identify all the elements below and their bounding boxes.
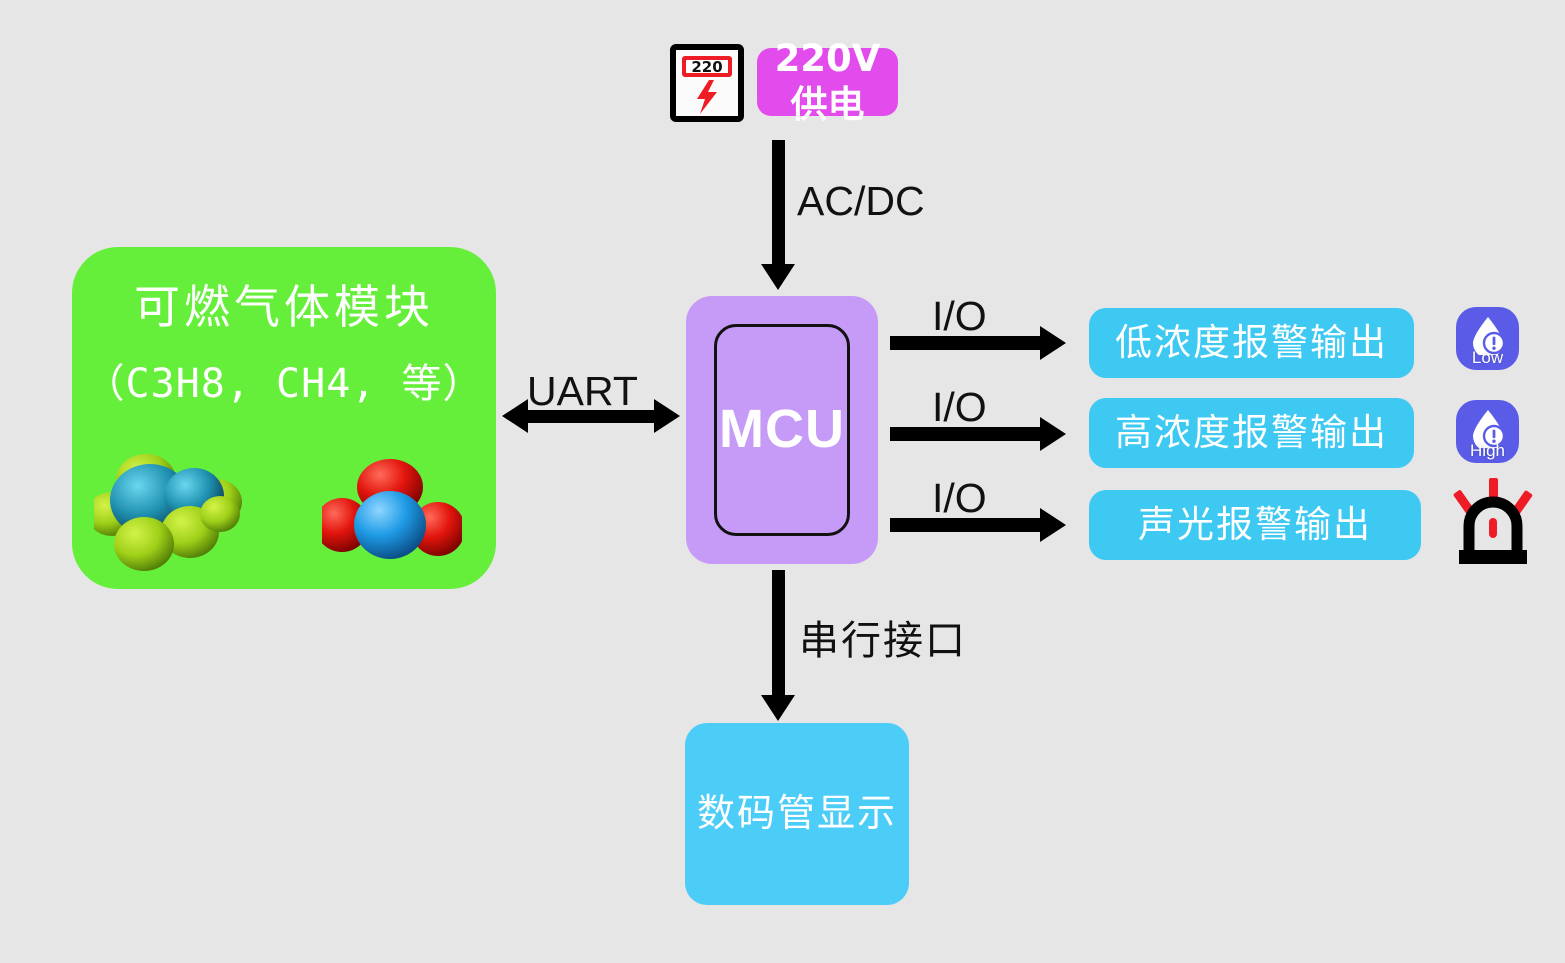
gas-module-title: 可燃气体模块 bbox=[72, 279, 496, 337]
propane-molecule bbox=[94, 452, 254, 577]
arrow-io-1-head bbox=[1040, 326, 1066, 360]
edge-label-acdc: AC/DC bbox=[797, 178, 925, 225]
edge-label-io-1: I/O bbox=[932, 293, 987, 340]
subtitle-paren-open: （ bbox=[85, 361, 126, 407]
low-concentration-caption: Low bbox=[1456, 348, 1519, 368]
arrow-io-2-head bbox=[1040, 417, 1066, 451]
digital-display-box: 数码管显示 bbox=[685, 723, 909, 905]
mcu-label: MCU bbox=[686, 296, 878, 564]
subtitle-paren-close: ） bbox=[442, 361, 483, 407]
edge-label-io-2: I/O bbox=[932, 384, 987, 431]
methane-molecule bbox=[322, 457, 462, 575]
power-supply-label: 220V供电 bbox=[757, 48, 898, 116]
low-concentration-icon: Low bbox=[1456, 307, 1519, 370]
gas-module-box: 可燃气体模块 （C3H8, CH4, 等） bbox=[72, 247, 496, 589]
arrow-acdc-shaft bbox=[772, 140, 785, 268]
alarm-output-high: 高浓度报警输出 bbox=[1089, 398, 1414, 468]
siren-icon bbox=[1451, 478, 1535, 566]
edge-label-io-3: I/O bbox=[932, 475, 987, 522]
high-concentration-icon: High bbox=[1456, 400, 1519, 463]
high-concentration-caption: High bbox=[1456, 441, 1519, 461]
arrow-io-3-head bbox=[1040, 508, 1066, 542]
diagram-canvas: 220 220V供电 AC/DC 可燃气体模块 （C3H8, CH4, 等） bbox=[0, 0, 1565, 963]
subtitle-formula: C3H8, CH4, bbox=[126, 361, 402, 407]
lightning-bolt-icon bbox=[694, 80, 720, 114]
arrow-serial-head bbox=[761, 695, 795, 721]
arrow-uart-head-left bbox=[502, 399, 528, 433]
socket-220v-icon: 220 bbox=[670, 44, 744, 122]
gas-module-subtitle: （C3H8, CH4, 等） bbox=[72, 359, 496, 409]
mcu-box: MCU bbox=[686, 296, 878, 564]
arrow-acdc-head bbox=[761, 264, 795, 290]
alarm-output-sound-light: 声光报警输出 bbox=[1089, 490, 1421, 560]
arrow-uart-head-right bbox=[654, 399, 680, 433]
arrow-serial-shaft bbox=[772, 570, 785, 699]
edge-label-uart: UART bbox=[527, 368, 638, 415]
edge-label-serial: 串行接口 bbox=[799, 608, 967, 666]
alarm-output-low: 低浓度报警输出 bbox=[1089, 308, 1414, 378]
socket-220v-value: 220 bbox=[682, 56, 732, 77]
subtitle-cn: 等 bbox=[401, 361, 442, 407]
